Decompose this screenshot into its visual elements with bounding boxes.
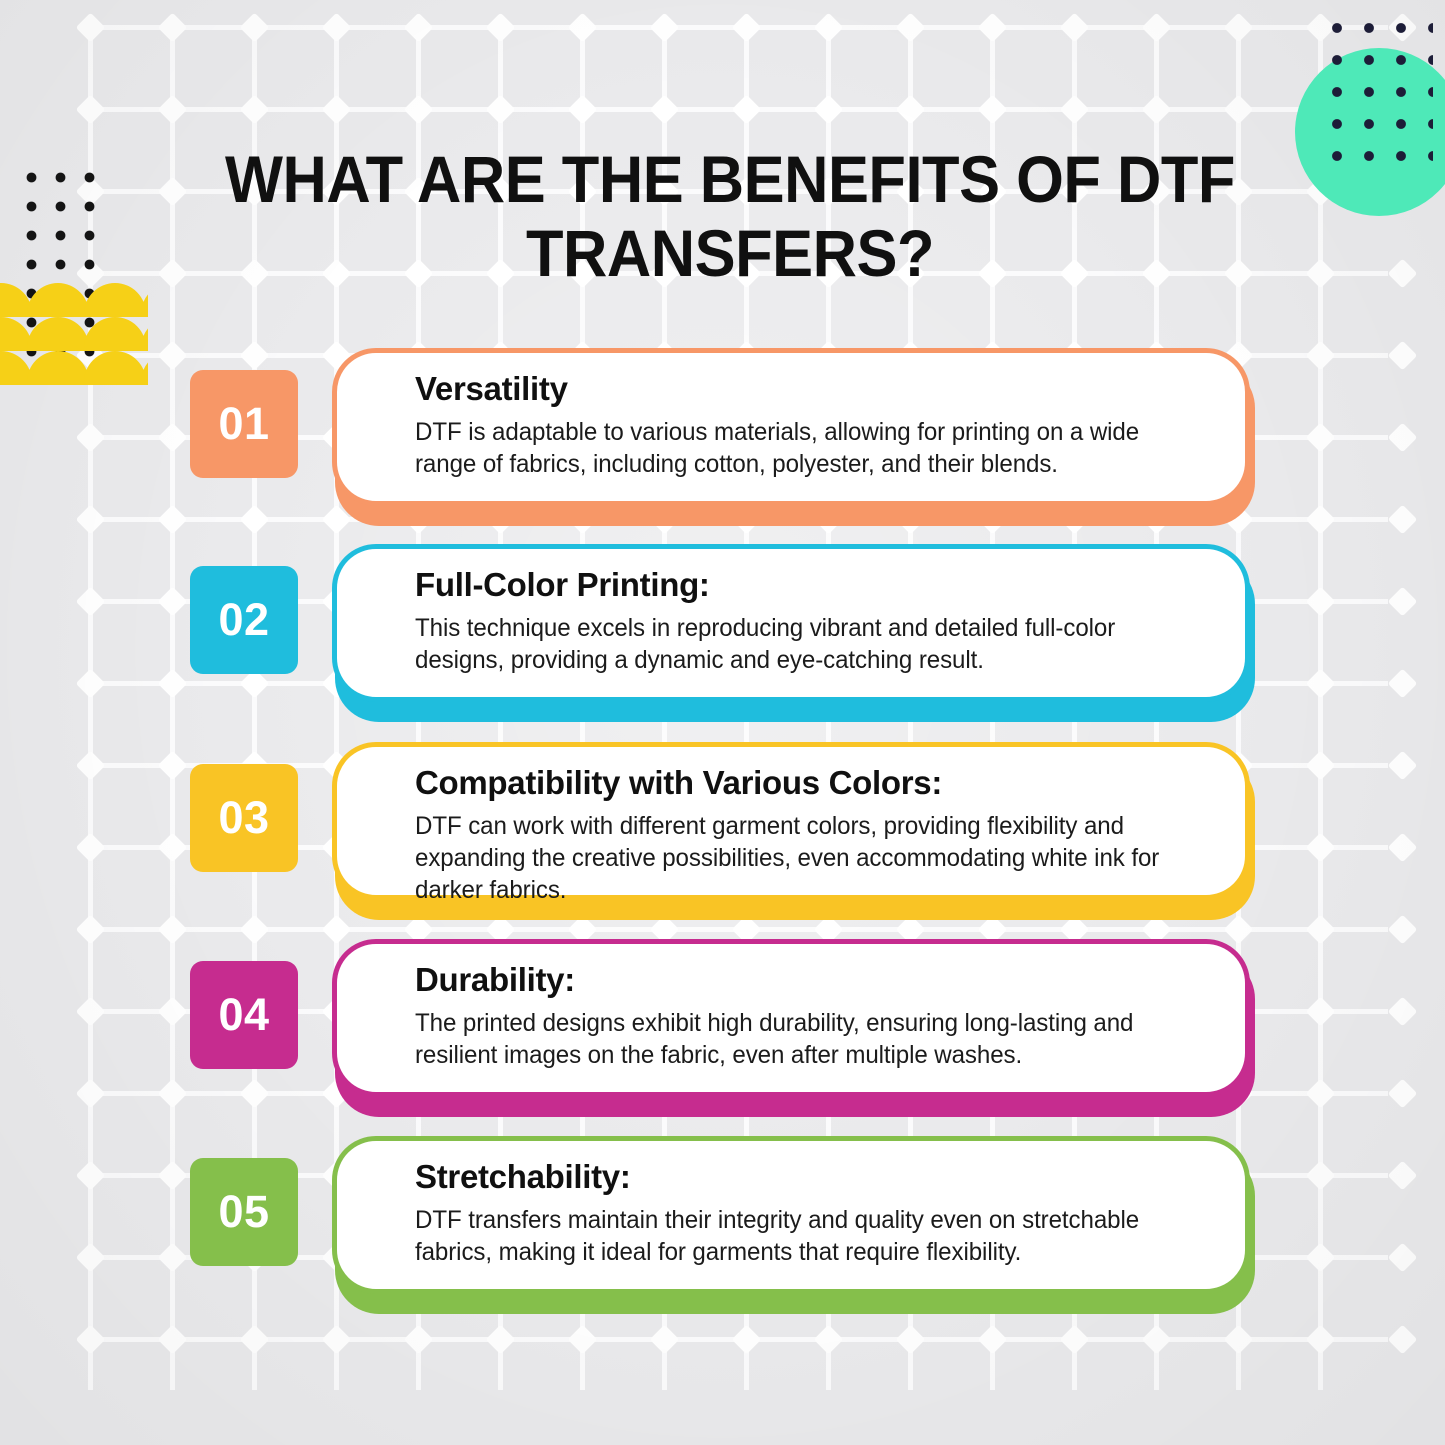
card-content: VersatilityDTF is adaptable to various m… [337, 353, 1245, 480]
card-body-text: The printed designs exhibit high durabil… [415, 1007, 1187, 1071]
card-number-badge: 01 [190, 370, 298, 478]
page-title: WHAT ARE THE BENEFITS OF DTF TRANSFERS? [191, 142, 1270, 290]
grid-diamond [1388, 1325, 1418, 1355]
card-panel: Durability:The printed designs exhibit h… [332, 939, 1250, 1097]
card-panel: Compatibility with Various Colors:DTF ca… [332, 742, 1250, 900]
card-number-badge: 04 [190, 961, 298, 1069]
card-title: Versatility [415, 370, 1215, 408]
infographic-canvas: WHAT ARE THE BENEFITS OF DTF TRANSFERS? … [0, 0, 1445, 1445]
card-panel: Full-Color Printing:This technique excel… [332, 544, 1250, 702]
benefit-card-02: 02Full-Color Printing:This technique exc… [0, 544, 1445, 714]
scallop-row [0, 283, 148, 317]
benefit-card-04: 04Durability:The printed designs exhibit… [0, 939, 1445, 1109]
card-body-text: DTF is adaptable to various materials, a… [415, 416, 1187, 480]
card-title: Compatibility with Various Colors: [415, 764, 1215, 802]
card-body-text: This technique excels in reproducing vib… [415, 612, 1187, 676]
card-body-text: DTF can work with different garment colo… [415, 810, 1187, 906]
card-content: Compatibility with Various Colors:DTF ca… [337, 747, 1245, 906]
card-title: Durability: [415, 961, 1215, 999]
card-panel: VersatilityDTF is adaptable to various m… [332, 348, 1250, 506]
scallop-row [0, 317, 148, 351]
scallop-shape [84, 317, 146, 351]
grid-diamond [1388, 259, 1418, 289]
navy-dot-grid-decoration [1317, 8, 1433, 172]
card-number-badge: 05 [190, 1158, 298, 1266]
scallop-shape [84, 283, 146, 317]
card-body-text: DTF transfers maintain their integrity a… [415, 1204, 1187, 1268]
card-title: Full-Color Printing: [415, 566, 1215, 604]
card-content: Durability:The printed designs exhibit h… [337, 944, 1245, 1071]
benefit-card-05: 05Stretchability:DTF transfers maintain … [0, 1136, 1445, 1306]
card-number-badge: 03 [190, 764, 298, 872]
card-title: Stretchability: [415, 1158, 1215, 1196]
card-panel: Stretchability:DTF transfers maintain th… [332, 1136, 1250, 1294]
card-content: Stretchability:DTF transfers maintain th… [337, 1141, 1245, 1268]
card-content: Full-Color Printing:This technique excel… [337, 549, 1245, 676]
benefit-card-03: 03Compatibility with Various Colors:DTF … [0, 742, 1445, 912]
card-number-badge: 02 [190, 566, 298, 674]
benefit-card-01: 01VersatilityDTF is adaptable to various… [0, 348, 1445, 518]
scallop-shape [27, 283, 89, 317]
scallop-shape [27, 317, 89, 351]
